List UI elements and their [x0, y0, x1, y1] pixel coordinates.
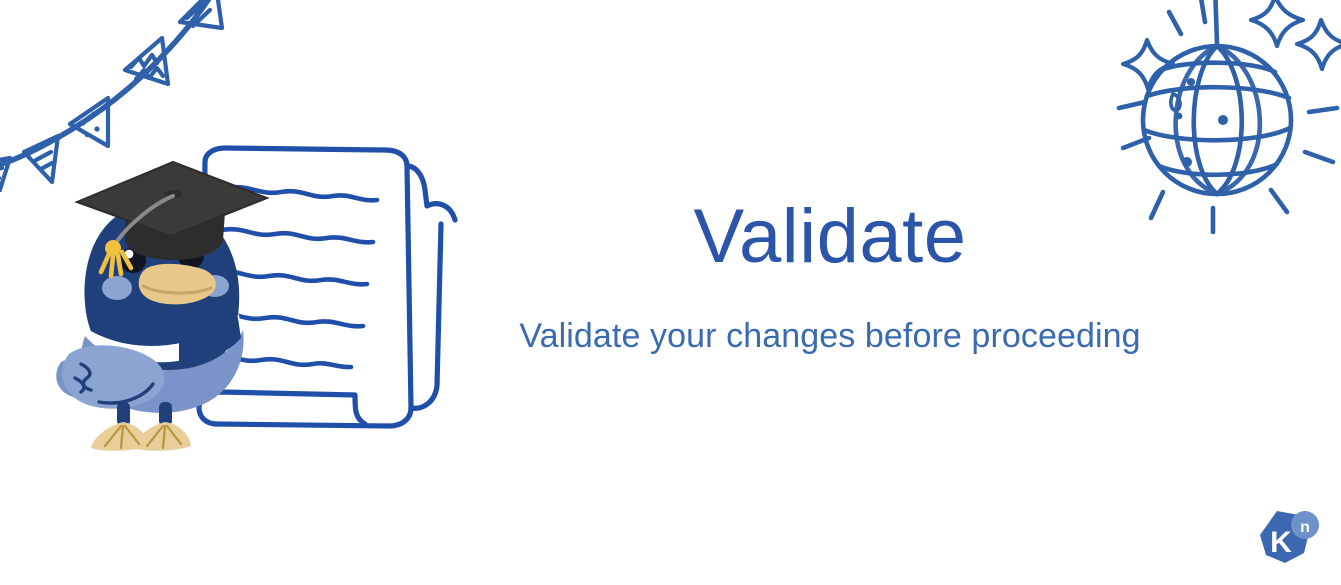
hero-text-block: Validate Validate your changes before pr…: [330, 196, 1330, 357]
graduation-cap-icon: [77, 162, 267, 276]
logo-secondary-letter: n: [1300, 519, 1310, 536]
tutorial-intro-screen: Validate Validate your changes before pr…: [0, 0, 1341, 585]
page-title: Validate: [330, 196, 1330, 278]
killercoda-logo[interactable]: K n: [1251, 505, 1323, 573]
party-bunting-icon: [0, 0, 234, 192]
logo-primary-letter: K: [1270, 526, 1292, 559]
bird-body: [56, 203, 243, 451]
page-subtitle: Validate your changes before proceeding: [330, 316, 1330, 357]
